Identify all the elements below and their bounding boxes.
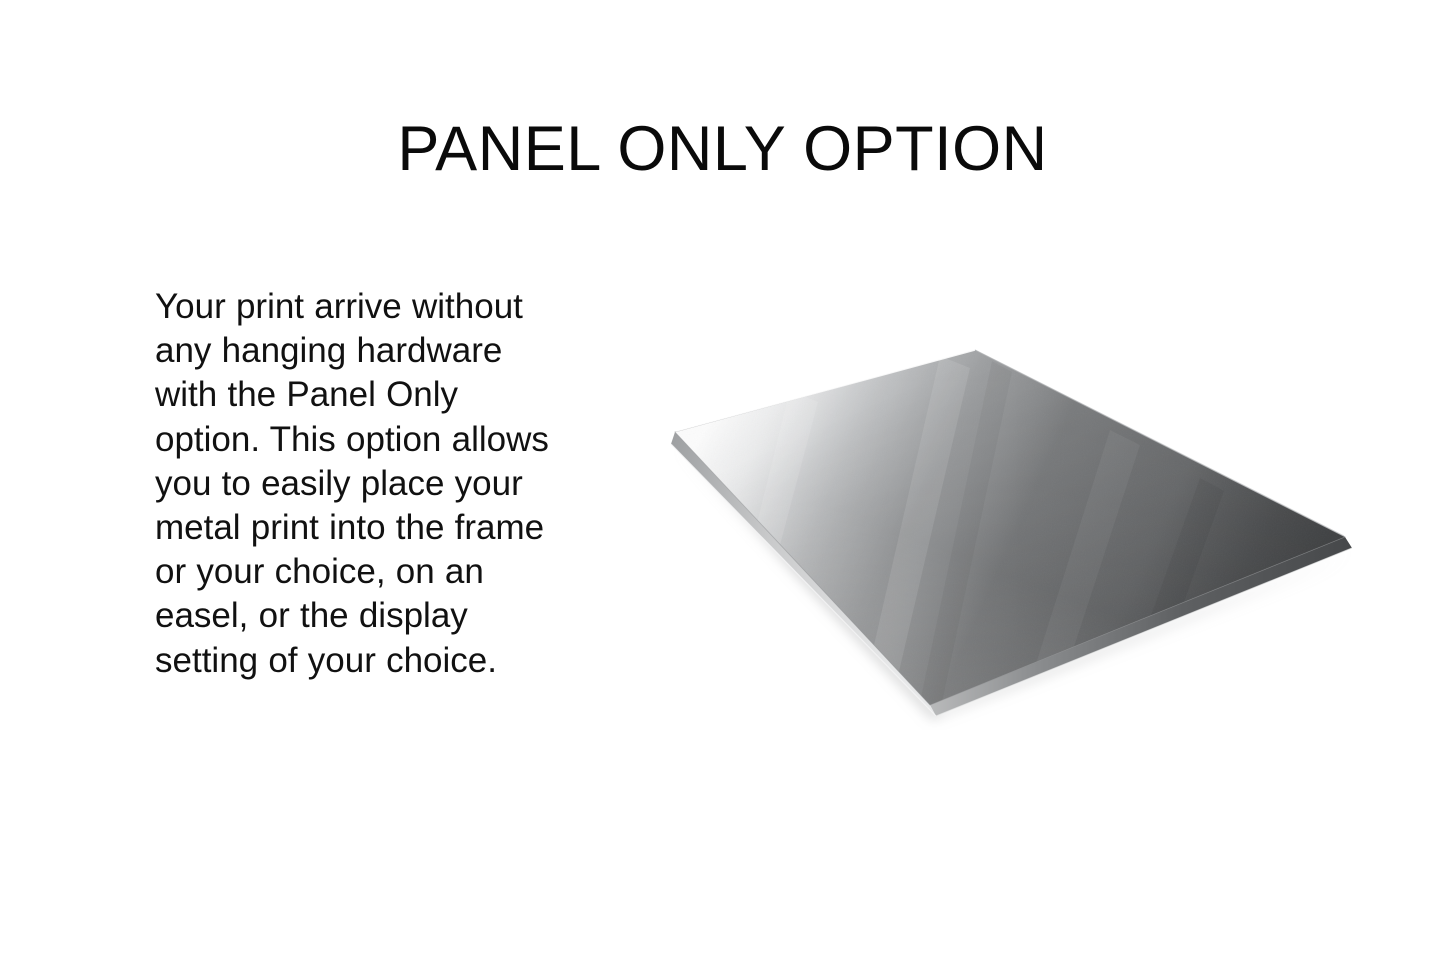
page-title: PANEL ONLY OPTION — [0, 118, 1445, 181]
body-paragraph: Your print arrive without any hanging ha… — [155, 285, 559, 683]
slide-canvas: PANEL ONLY OPTION Your print arrive with… — [0, 0, 1445, 963]
metal-panel-illustration — [640, 320, 1380, 730]
metal-panel-figure — [640, 320, 1380, 730]
